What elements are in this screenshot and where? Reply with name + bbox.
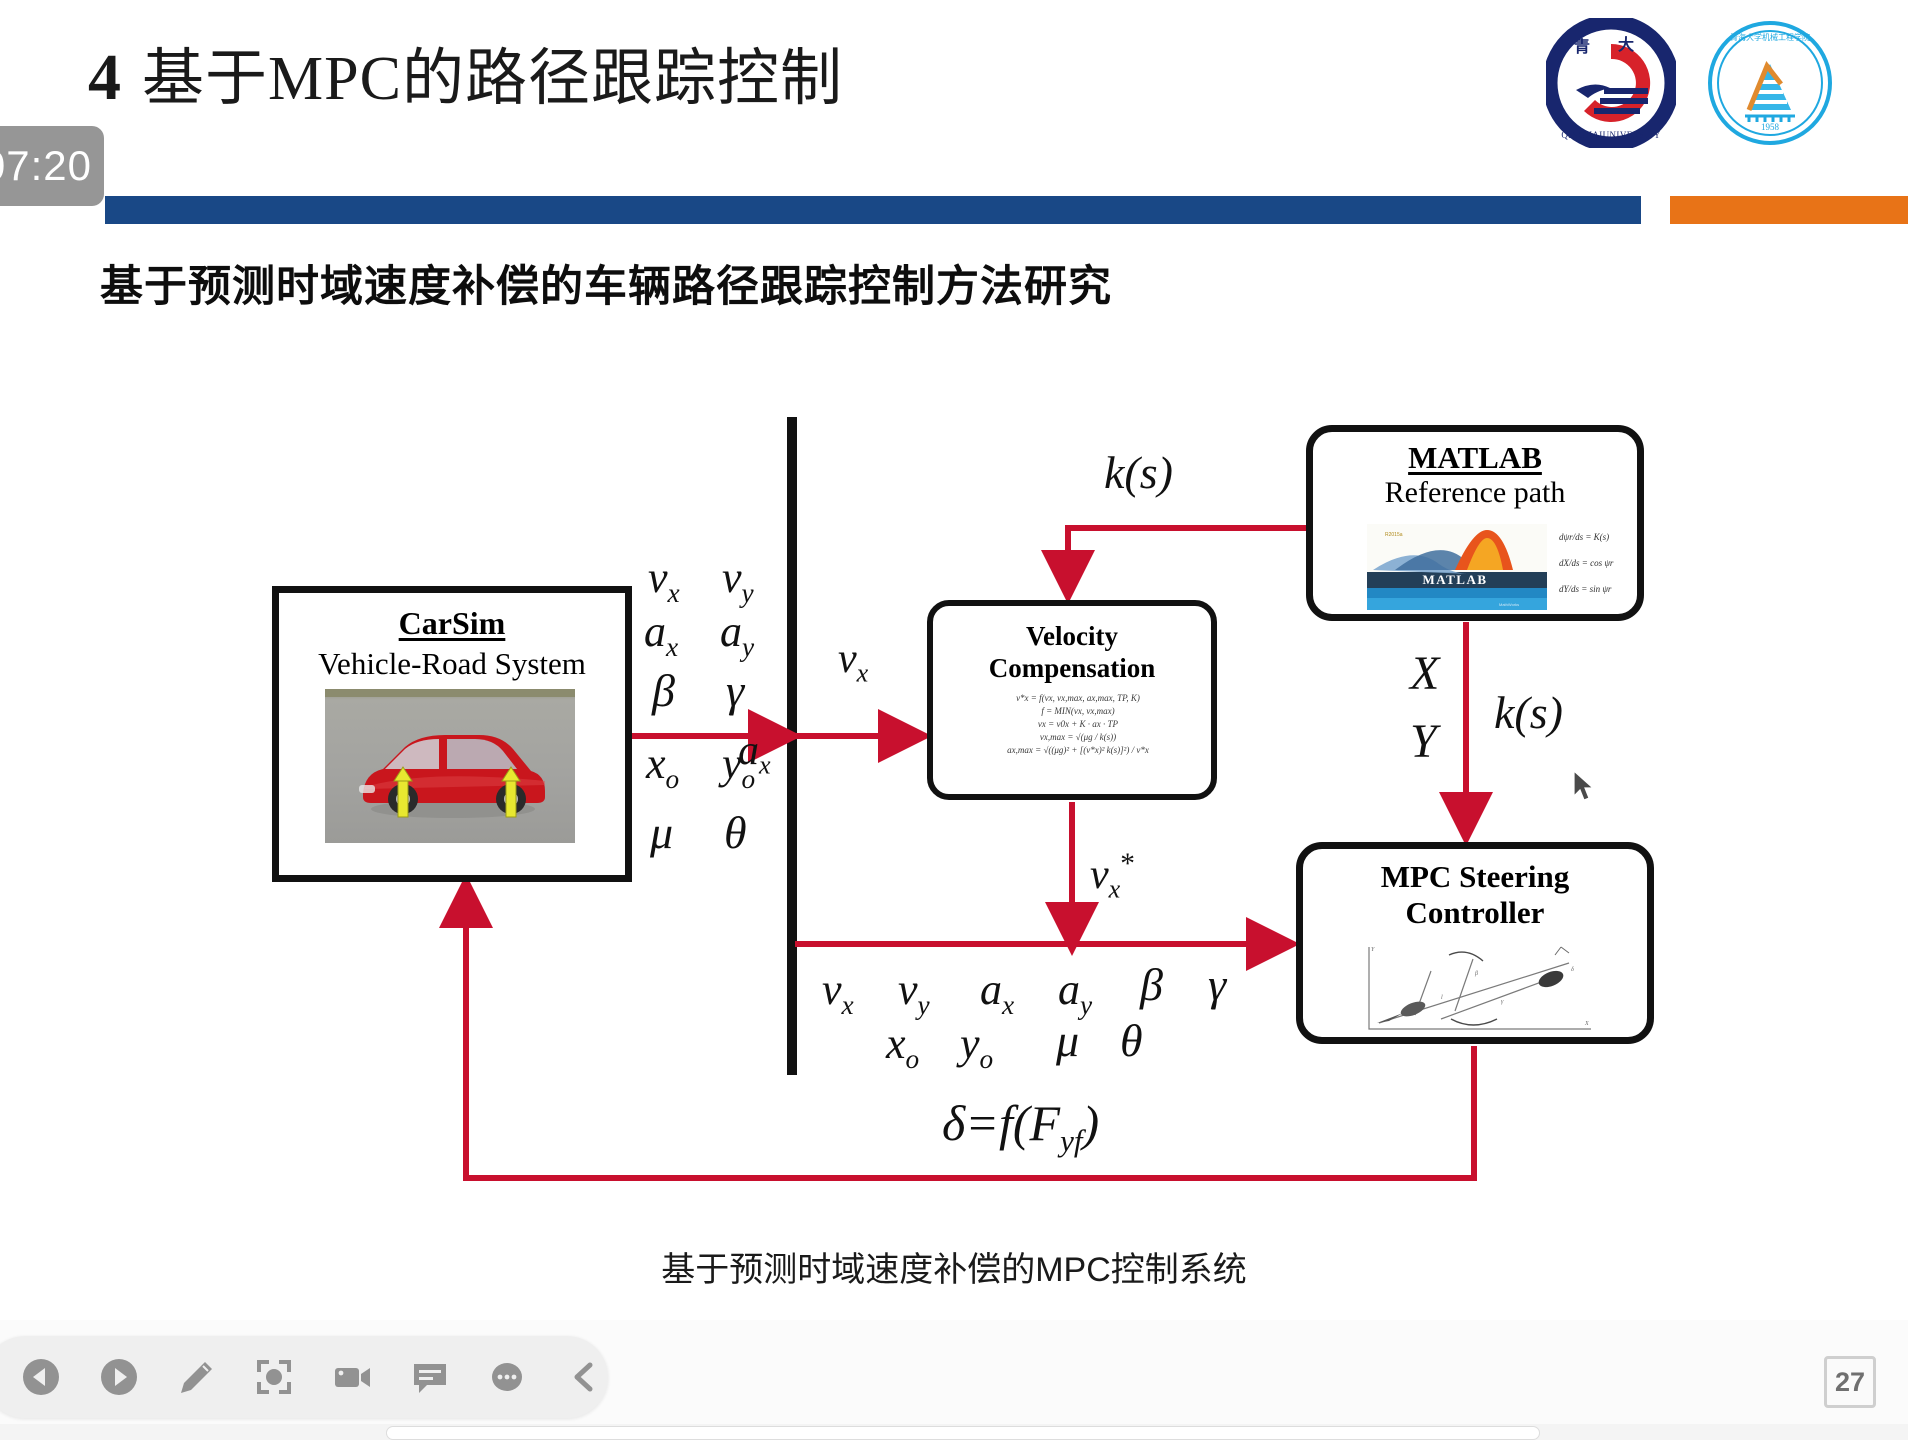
annotate-pen-button[interactable]	[174, 1354, 220, 1400]
pen-icon	[175, 1356, 217, 1398]
vc-title-line2: Compensation	[989, 653, 1156, 683]
slide-canvas: 4基于MPC的路径跟踪控制 青 大 QINGHAIUNIVERSITY	[0, 0, 1908, 1320]
bottom-label-theta: θ	[1120, 1018, 1143, 1064]
svg-text:MathWorks: MathWorks	[1499, 602, 1519, 607]
bus-label-xo: xo	[646, 742, 679, 793]
recording-timer-badge: 07:20	[0, 126, 104, 206]
velocity-compensation-box: Velocity Compensation v*x = f(vx, vx,max…	[927, 600, 1217, 800]
svg-text:γ: γ	[1501, 999, 1504, 1005]
mpc-title-line1: MPC Steering	[1381, 859, 1570, 894]
label-position-Y: Y	[1410, 718, 1437, 766]
vc-formula-5: ax,max = √((μg)² + [(v*x)² k(s)]²) / v*x	[949, 744, 1207, 757]
timer-value: 07:20	[0, 142, 92, 190]
velocity-compensation-formulas: v*x = f(vx, vx,max, ax,max, TP, K) f = M…	[949, 692, 1207, 757]
diagram-caption: 基于预测时域速度补偿的MPC控制系统	[0, 1242, 1908, 1291]
prev-circle-icon	[20, 1356, 62, 1398]
bottom-label-yo: yo	[960, 1022, 993, 1073]
more-options-button[interactable]	[485, 1354, 531, 1400]
chevron-left-icon	[564, 1356, 606, 1398]
svg-text:Y: Y	[1371, 947, 1375, 953]
bottom-label-xo: xo	[886, 1022, 919, 1073]
collapse-toolbar-button[interactable]	[562, 1354, 608, 1400]
control-system-diagram: CarSim Vehicle-Road System	[0, 0, 1908, 760]
carsim-vehicle-image	[325, 689, 575, 843]
svg-text:X: X	[1584, 1021, 1589, 1027]
speech-bubble-icon	[409, 1356, 451, 1398]
video-button[interactable]	[329, 1354, 375, 1400]
matlab-title: MATLAB	[1313, 440, 1637, 476]
bus-label-ax: ax	[644, 610, 678, 661]
svg-text:R2015a: R2015a	[1385, 532, 1403, 538]
svg-text:MATLAB: MATLAB	[1422, 572, 1487, 587]
label-position-X: X	[1410, 650, 1439, 698]
next-circle-icon	[98, 1356, 140, 1398]
bus-label-vx: vx	[648, 556, 680, 607]
focus-target-icon	[253, 1356, 295, 1398]
matlab-subtitle: Reference path	[1313, 476, 1637, 510]
mpc-bicycle-model-image: Y X β γ δ l	[1355, 941, 1605, 1037]
carsim-subtitle: Vehicle-Road System	[279, 646, 625, 682]
vc-formula-3: vx = v0x + K · ax · TP	[949, 718, 1207, 731]
label-velocity-star: vx*	[1090, 850, 1135, 902]
label-curvature-top: k(s)	[1104, 450, 1173, 496]
mpc-steering-controller-box: MPC Steering Controller	[1296, 842, 1654, 1044]
velocity-compensation-title: Velocity Compensation	[933, 620, 1211, 684]
ellipsis-icon	[486, 1356, 528, 1398]
bus-label-ay: ay	[720, 610, 754, 661]
presentation-toolbar[interactable]	[0, 1336, 608, 1418]
bus-label-mu: μ	[650, 810, 673, 856]
carsim-title: CarSim	[279, 605, 625, 642]
vc-formula-2: f = MIN(vx, vx,max)	[949, 705, 1207, 718]
bottom-label-mu: μ	[1056, 1018, 1079, 1064]
label-to-velocity-vx: vx	[838, 638, 868, 686]
mouse-cursor	[1572, 770, 1598, 804]
matlab-equation-2: dX/ds = cos ψr	[1559, 550, 1645, 576]
bottom-label-vy: vy	[898, 968, 930, 1019]
page-number-badge: 27	[1824, 1356, 1876, 1408]
svg-text:β: β	[1474, 971, 1478, 977]
svg-text:δ: δ	[1571, 967, 1574, 973]
scrollbar-thumb[interactable]	[386, 1426, 1540, 1440]
bus-label-theta: θ	[724, 810, 747, 856]
vc-formula-4: vx,max = √(μg / k(s))	[949, 731, 1207, 744]
carsim-box: CarSim Vehicle-Road System	[272, 586, 632, 882]
previous-slide-button[interactable]	[18, 1354, 64, 1400]
bottom-label-vx: vx	[822, 968, 854, 1019]
matlab-equation-3: dY/ds = sin ψr	[1559, 576, 1645, 602]
matlab-equation-1: dψr/ds = K(s)	[1559, 524, 1645, 550]
next-slide-button[interactable]	[96, 1354, 142, 1400]
label-to-velocity-ax: ax	[738, 730, 771, 778]
svg-text:l: l	[1441, 995, 1443, 1001]
matlab-box: MATLAB Reference path MATLAB R2015a Math…	[1306, 425, 1644, 621]
comment-button[interactable]	[407, 1354, 453, 1400]
mpc-title: MPC Steering Controller	[1303, 859, 1647, 931]
bus-label-gamma: γ	[726, 668, 744, 714]
label-feedback-formula: δ=f(Fyf)	[942, 1098, 1099, 1156]
vc-title-line1: Velocity	[1026, 621, 1118, 651]
arrow-matlab-ks-to-velocity	[1068, 528, 1306, 592]
page-number-value: 27	[1835, 1367, 1865, 1398]
laser-pointer-button[interactable]	[251, 1354, 297, 1400]
bottom-label-beta: β	[1140, 962, 1163, 1008]
bottom-label-ay: ay	[1058, 968, 1092, 1019]
bus-label-beta: β	[652, 668, 675, 714]
bus-label-vy: vy	[722, 556, 754, 607]
matlab-splash-image: MATLAB R2015a MathWorks	[1367, 524, 1547, 610]
bottom-label-gamma: γ	[1208, 962, 1226, 1008]
bottom-label-ax: ax	[980, 968, 1014, 1019]
vc-formula-1: v*x = f(vx, vx,max, ax,max, TP, K)	[949, 692, 1207, 705]
video-camera-icon	[331, 1356, 373, 1398]
matlab-equations: dψr/ds = K(s) dX/ds = cos ψr dY/ds = sin…	[1559, 524, 1645, 602]
label-curvature-right: k(s)	[1494, 690, 1563, 736]
mpc-title-line2: Controller	[1406, 895, 1545, 930]
